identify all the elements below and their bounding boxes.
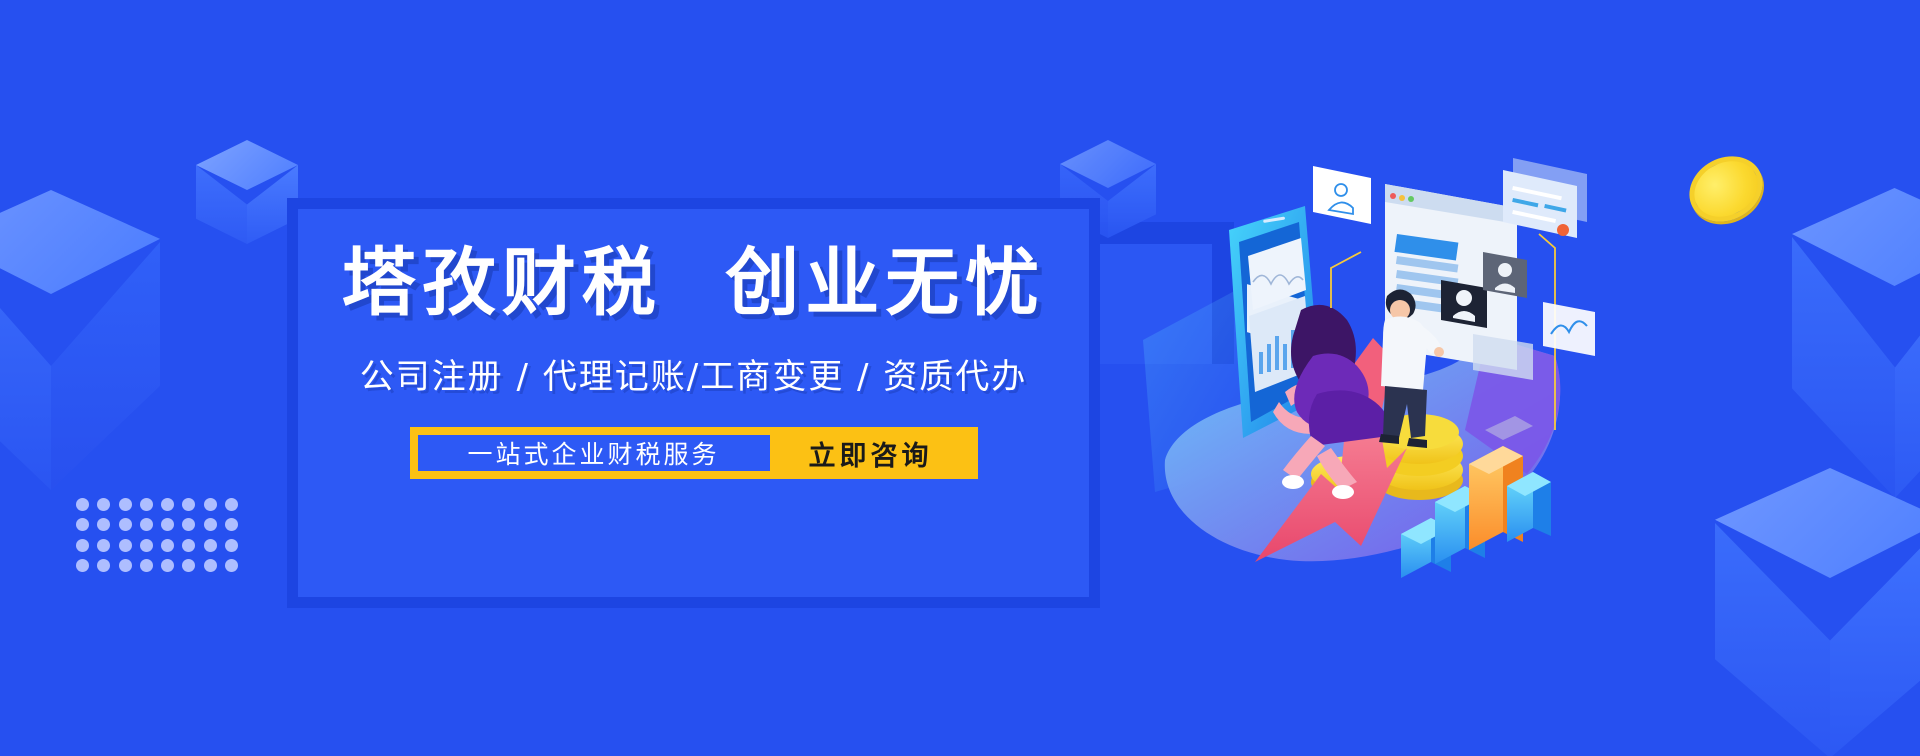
floating-line-chart-card	[1543, 302, 1595, 356]
page-title: 塔孜财税 创业无忧	[298, 245, 1089, 323]
isometric-block-left-icon	[0, 190, 160, 490]
isometric-business-illustration	[1135, 130, 1605, 600]
floating-profile-card	[1313, 166, 1371, 224]
cta-bar[interactable]: 一站式企业财税服务 立即咨询	[410, 427, 978, 479]
headline-panel: 塔孜财税 创业无忧 公司注册 / 代理记账/工商变更 / 资质代办 一站式企业财…	[287, 198, 1100, 608]
dot-grid-pattern-icon	[72, 494, 242, 576]
isometric-cube-upper-left-icon	[196, 140, 298, 244]
cta-tagline: 一站式企业财税服务	[418, 435, 770, 471]
isometric-prism-right-icon	[1792, 188, 1920, 498]
promo-banner: 塔孜财税 创业无忧 公司注册 / 代理记账/工商变更 / 资质代办 一站式企业财…	[0, 0, 1920, 756]
consult-now-button[interactable]: 立即咨询	[770, 434, 978, 473]
isometric-cube-lower-right-icon	[1715, 468, 1920, 756]
gold-coin-icon	[1678, 144, 1774, 234]
service-list-subtitle: 公司注册 / 代理记账/工商变更 / 资质代办	[298, 349, 1089, 398]
